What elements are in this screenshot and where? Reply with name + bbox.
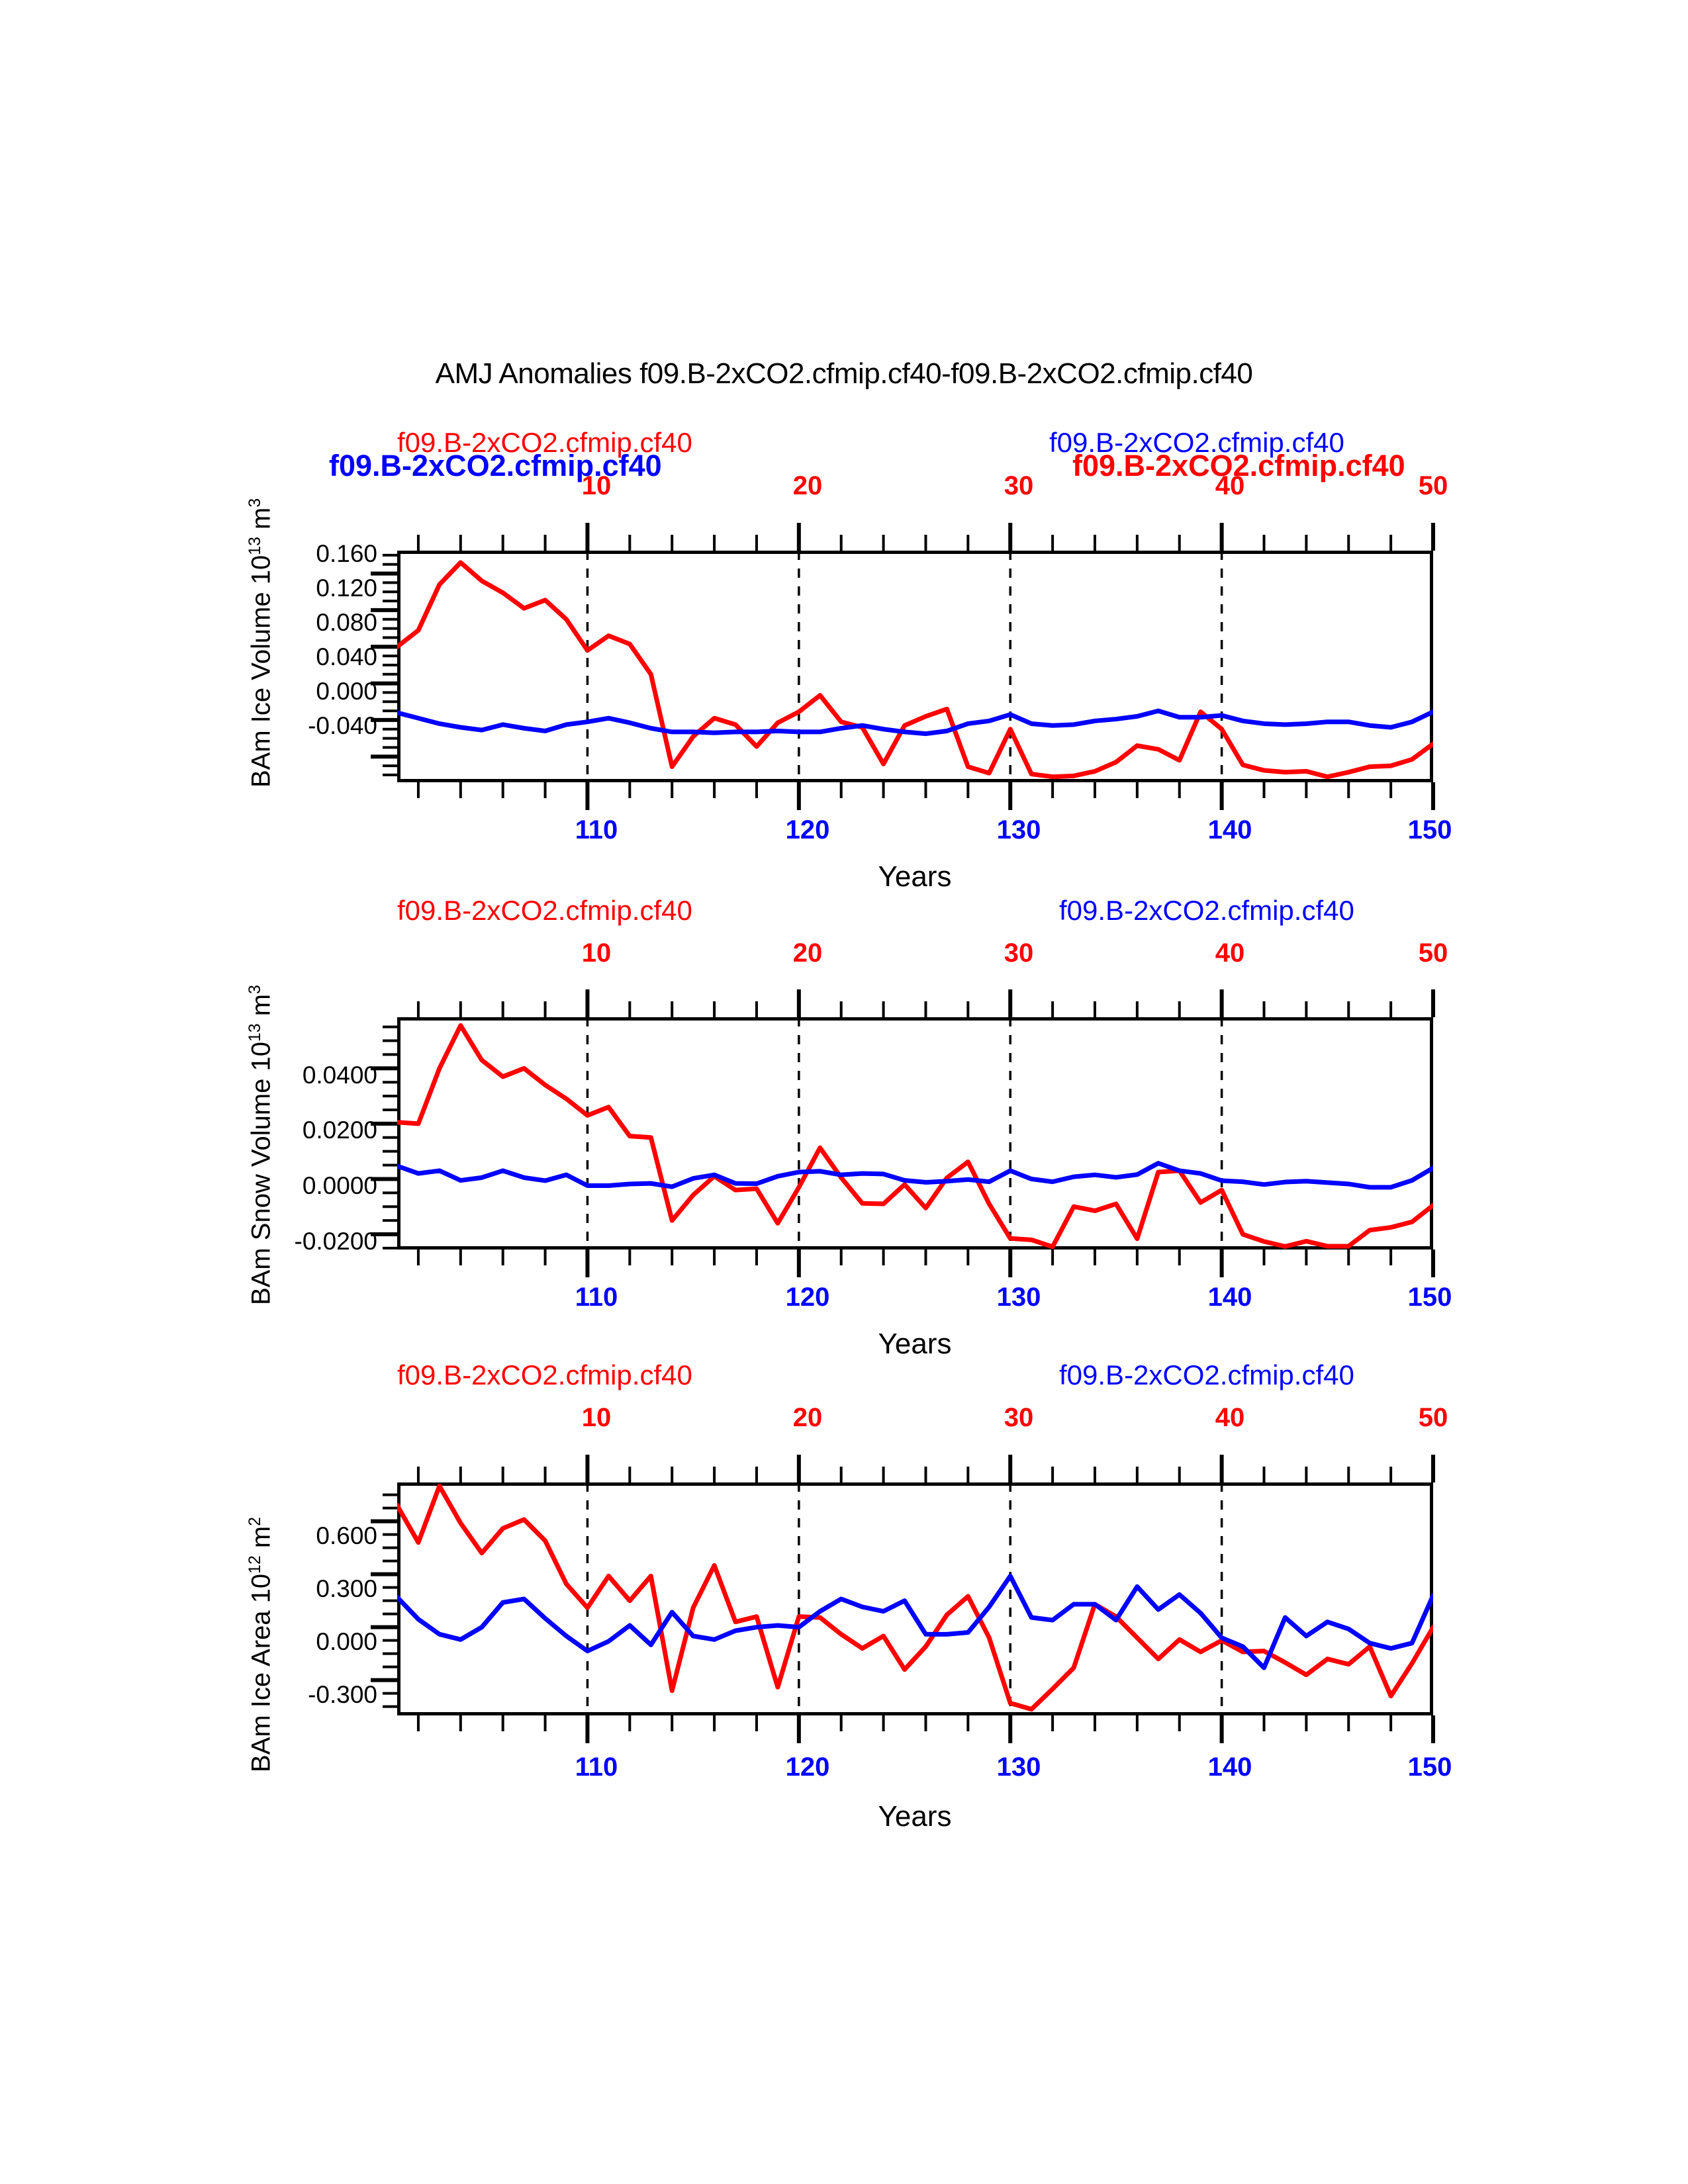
- panel2-xtick-top-3: 40: [1215, 938, 1245, 968]
- panel1-ytick-1: 0.120: [265, 574, 377, 602]
- panel1-ytick-0: 0.160: [265, 540, 377, 568]
- panel3-ticks-svg: [371, 1455, 1463, 1747]
- panel3-xtick-top-0: 10: [582, 1403, 612, 1433]
- panel2-label-right-blue: f09.B-2xCO2.cfmip.cf40: [1059, 895, 1354, 927]
- panel3-xtick-bottom-2: 130: [997, 1752, 1041, 1782]
- panel3-ytick-0: 0.600: [261, 1522, 377, 1550]
- panel1-xtick-bottom-4: 150: [1408, 815, 1452, 845]
- panel1-xtick-top-2: 30: [1004, 471, 1034, 501]
- panel3-xtick-bottom-0: 110: [575, 1752, 618, 1782]
- panel3-ytick-1: 0.300: [261, 1575, 377, 1603]
- panel2-ytick-0: 0.0400: [250, 1062, 377, 1089]
- panel3-xtick-bottom-3: 140: [1208, 1752, 1252, 1782]
- panel2-xtick-bottom-2: 130: [997, 1283, 1041, 1312]
- panel2-label-left-red: f09.B-2xCO2.cfmip.cf40: [397, 895, 692, 927]
- panel3-xtick-bottom-1: 120: [786, 1752, 830, 1782]
- panel2-xtick-top-1: 20: [793, 938, 823, 968]
- panel2-x-axis-title: Years: [878, 1328, 952, 1361]
- panel3-label-left-red: f09.B-2xCO2.cfmip.cf40: [397, 1359, 692, 1391]
- panel3-label-right-blue: f09.B-2xCO2.cfmip.cf40: [1059, 1359, 1354, 1391]
- panel2-xtick-top-4: 50: [1419, 938, 1448, 968]
- panel2-ticks-svg: [371, 989, 1463, 1281]
- panel3-xtick-top-1: 20: [793, 1403, 823, 1433]
- panel3-ytick-2: 0.000: [261, 1628, 377, 1656]
- panel1-ytick-3: 0.040: [265, 643, 377, 671]
- panel1-ylabel-unit-exp: 3: [246, 498, 264, 508]
- panel3-xtick-top-3: 40: [1215, 1403, 1245, 1433]
- panel3-ylabel-text: BAm Ice Area 10: [246, 1574, 275, 1772]
- panel3-ylabel-exp: 12: [246, 1555, 264, 1574]
- panel1-ylabel-exp: 13: [246, 537, 264, 555]
- panel1-ytick-2: 0.080: [265, 609, 377, 637]
- panel2-xtick-bottom-4: 150: [1408, 1283, 1452, 1312]
- panel2-xtick-bottom-0: 110: [575, 1283, 618, 1312]
- panel1-xtick-bottom-2: 130: [997, 815, 1041, 845]
- panel2-ylabel-exp: 13: [246, 1023, 264, 1042]
- panel1-xtick-top-1: 20: [793, 471, 823, 501]
- panel2-ytick-3: -0.0200: [240, 1228, 377, 1255]
- panel3-xtick-bottom-4: 150: [1408, 1752, 1452, 1782]
- panel3-xtick-top-4: 50: [1419, 1403, 1448, 1433]
- panel2-ylabel-unit-exp: 3: [246, 985, 264, 994]
- panel1-label-left-blue: f09.B-2xCO2.cfmip.cf40: [329, 449, 662, 483]
- page-title: AMJ Anomalies f09.B-2xCO2.cfmip.cf40-f09…: [0, 357, 1688, 390]
- panel1-ytick-4: 0.000: [265, 678, 377, 705]
- panel2-xtick-bottom-1: 120: [786, 1283, 830, 1312]
- panel1-ylabel-unit: m: [246, 508, 275, 537]
- panel1-xtick-top-0: 10: [582, 471, 612, 501]
- panel1-xtick-bottom-3: 140: [1208, 815, 1252, 845]
- panel1-x-axis-title: Years: [878, 860, 952, 893]
- panel1-xtick-top-4: 50: [1419, 471, 1448, 501]
- panel1-ticks-svg: [371, 523, 1463, 814]
- panel2-y-axis-label: BAm Snow Volume 1013 m3: [246, 985, 276, 1305]
- panel2-xtick-top-2: 30: [1004, 938, 1034, 968]
- panel3-xtick-top-2: 30: [1004, 1403, 1034, 1433]
- panel3-x-axis-title: Years: [878, 1800, 952, 1833]
- panel2-ytick-1: 0.0200: [250, 1116, 377, 1144]
- panel2-xtick-bottom-3: 140: [1208, 1283, 1252, 1312]
- panel3-ytick-3: -0.300: [252, 1681, 377, 1709]
- panel2-xtick-top-0: 10: [582, 938, 612, 968]
- chart-page: AMJ Anomalies f09.B-2xCO2.cfmip.cf40-f09…: [0, 0, 1688, 2184]
- panel1-xtick-top-3: 40: [1215, 471, 1245, 501]
- panel2-ytick-2: 0.0000: [250, 1172, 377, 1200]
- panel1-ytick-5: -0.040: [255, 712, 377, 740]
- panel1-xtick-bottom-1: 120: [786, 815, 830, 845]
- panel2-ylabel-unit: m: [246, 994, 275, 1023]
- panel1-xtick-bottom-0: 110: [575, 815, 618, 845]
